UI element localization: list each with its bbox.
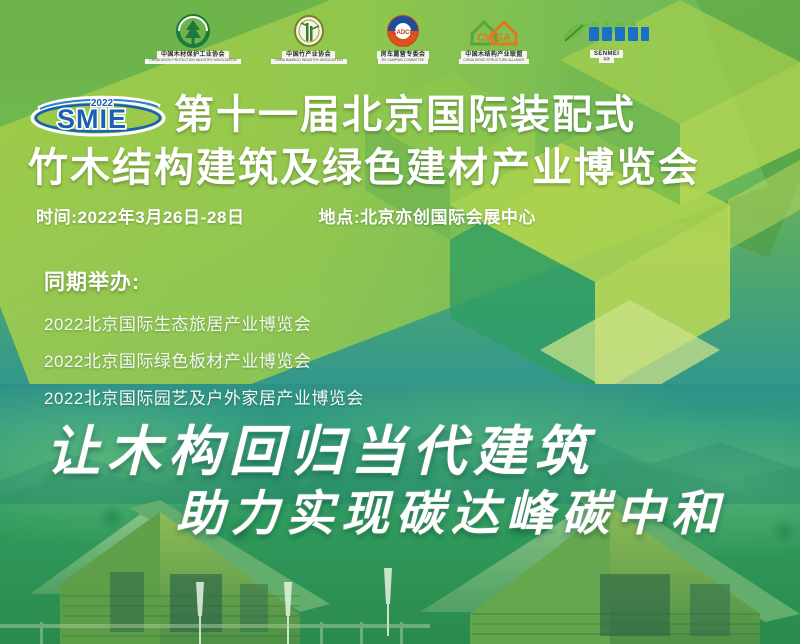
concurrent-event-2: 2022北京国际园艺及户外家居产业博览会 xyxy=(44,384,364,409)
sponsor-logo-2-sub: RV CAMPING COMMITTEE xyxy=(378,59,429,63)
concurrent-events-title: 同期举办: xyxy=(44,266,364,296)
sponsor-logo-1: 中国竹产业协会 CHINA BAMBOO INDUSTRY ASSOCIATIO… xyxy=(271,14,347,64)
smie-logo-svg: SMIE 2022 xyxy=(28,92,168,138)
svg-text:CADCC: CADCC xyxy=(392,30,414,36)
sponsor-logo-0: 中国木材保护工业协会 CHINA WOOD PROTECTION INDUSTR… xyxy=(145,14,240,64)
tree-shield-icon xyxy=(171,14,215,50)
exhibition-poster: 中国木材保护工业协会 CHINA WOOD PROTECTION INDUSTR… xyxy=(0,0,800,644)
smie-logo: SMIE 2022 xyxy=(28,92,168,138)
sponsor-logo-3-sub: CHINA WOOD STRUCTURE ALLIANCE xyxy=(459,59,528,63)
slogan-line-2: 助力实现碳达峰碳中和 xyxy=(176,490,726,538)
senmei-leaf-icon xyxy=(559,15,655,49)
svg-text:CWSA: CWSA xyxy=(477,32,511,44)
sponsor-logo-0-sub: CHINA WOOD PROTECTION INDUSTRY ASSOCIATI… xyxy=(145,59,240,63)
sponsor-logo-4: SENMEI 森美 xyxy=(559,15,655,63)
cadcc-badge-icon: CADCC xyxy=(381,14,425,50)
headline-line-2: 竹木结构建筑及绿色建材产业博览会 xyxy=(28,148,782,188)
sponsor-logo-1-sub: CHINA BAMBOO INDUSTRY ASSOCIATION xyxy=(271,59,347,63)
slogan-line-1: 让木构回归当代建筑 xyxy=(46,424,595,478)
concurrent-events-block: 同期举办: 2022北京国际生态旅居产业博览会 2022北京国际绿色板材产业博览… xyxy=(44,266,364,421)
event-date: 时间:2022年3月26日-28日 xyxy=(36,203,245,228)
sponsor-logo-2: CADCC 房车露营专委会 RV CAMPING COMMITTEE xyxy=(377,14,430,64)
event-venue: 地点:北京亦创国际会展中心 xyxy=(319,203,536,228)
concurrent-event-1: 2022北京国际绿色板材产业博览会 xyxy=(44,347,364,372)
house-cwsa-icon: CWSA xyxy=(466,14,522,50)
slogan-block: 让木构回归当代建筑 助力实现碳达峰碳中和 xyxy=(0,424,800,564)
sponsor-logo-3: CWSA 中国木结构产业联盟 CHINA WOOD STRUCTURE ALLI… xyxy=(459,14,528,64)
smie-logo-year: 2022 xyxy=(91,98,114,109)
headline-line-1: 第十一届北京国际装配式 xyxy=(174,95,636,135)
bamboo-seal-icon xyxy=(287,14,331,50)
concurrent-event-0: 2022北京国际生态旅居产业博览会 xyxy=(44,310,364,335)
event-meta-row: 时间:2022年3月26日-28日 地点:北京亦创国际会展中心 xyxy=(36,203,780,228)
headline-block: SMIE 2022 第十一届北京国际装配式 竹木结构建筑及绿色建材产业博览会 xyxy=(28,90,782,188)
poster-content: 中国木材保护工业协会 CHINA WOOD PROTECTION INDUSTR… xyxy=(0,0,800,644)
headline-row-1: SMIE 2022 第十一届北京国际装配式 xyxy=(28,90,782,140)
sponsor-logo-strip: 中国木材保护工业协会 CHINA WOOD PROTECTION INDUSTR… xyxy=(0,8,800,70)
sponsor-logo-4-sub: 森美 xyxy=(599,58,614,62)
